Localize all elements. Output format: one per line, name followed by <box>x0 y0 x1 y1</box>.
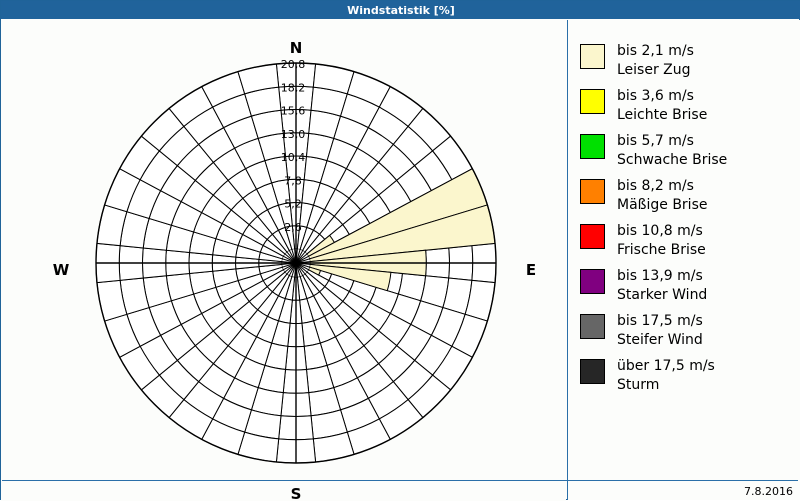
legend-item-speed: bis 5,7 m/s <box>617 133 694 149</box>
legend-item-speed: bis 8,2 m/s <box>617 178 694 194</box>
legend-item[interactable]: bis 13,9 m/sStarker Wind <box>580 267 707 305</box>
legend-swatch-icon <box>580 89 605 114</box>
legend-item[interactable]: bis 8,2 m/sMäßige Brise <box>580 177 707 215</box>
window-title: Windstatistik [%] <box>347 4 455 17</box>
legend-item-name: Steifer Wind <box>617 331 703 350</box>
legend-panel: bis 2,1 m/sLeiser Zugbis 3,6 m/sLeichte … <box>567 20 800 500</box>
legend-item-name: Sturm <box>617 376 715 395</box>
wind-rose-svg: 2,65,27,810,413,015,618,220,8 <box>1 19 566 501</box>
legend-item-name: Frische Brise <box>617 241 706 260</box>
legend-item-name: Starker Wind <box>617 286 707 305</box>
legend-swatch-icon <box>580 134 605 159</box>
legend-item-speed: bis 10,8 m/s <box>617 223 703 239</box>
legend-item-speed: bis 2,1 m/s <box>617 43 694 59</box>
legend-item-speed: bis 13,9 m/s <box>617 268 703 284</box>
radial-tick-label: 20,8 <box>281 58 306 71</box>
legend-item-text: bis 17,5 m/sSteifer Wind <box>617 312 703 350</box>
legend-item[interactable]: bis 3,6 m/sLeichte Brise <box>580 87 707 125</box>
wind-rose-window: Windstatistik [%] 2,65,27,810,413,015,61… <box>0 0 800 500</box>
legend-swatch-icon <box>580 179 605 204</box>
wind-rose-plot: 2,65,27,810,413,015,618,220,8 N S W E <box>1 19 566 501</box>
legend-item[interactable]: bis 17,5 m/sSteifer Wind <box>580 312 703 350</box>
legend-item-text: bis 13,9 m/sStarker Wind <box>617 267 707 305</box>
radial-tick-label: 7,8 <box>284 174 302 187</box>
legend-item-name: Leiser Zug <box>617 61 694 80</box>
legend-swatch-icon <box>580 44 605 69</box>
legend-item[interactable]: über 17,5 m/sSturm <box>580 357 715 395</box>
legend-item[interactable]: bis 10,8 m/sFrische Brise <box>580 222 706 260</box>
legend-item-text: bis 10,8 m/sFrische Brise <box>617 222 706 260</box>
radial-tick-label: 5,2 <box>284 198 302 211</box>
legend-item-text: über 17,5 m/sSturm <box>617 357 715 395</box>
legend-item-name: Schwache Brise <box>617 151 727 170</box>
legend-item-speed: bis 3,6 m/s <box>617 88 694 104</box>
compass-label-west: W <box>31 261 91 279</box>
legend-swatch-icon <box>580 224 605 249</box>
compass-label-north: N <box>266 39 326 57</box>
legend-item[interactable]: bis 5,7 m/sSchwache Brise <box>580 132 727 170</box>
legend-swatch-icon <box>580 269 605 294</box>
footer-date: 7.8.2016 <box>744 485 793 498</box>
legend-item-text: bis 3,6 m/sLeichte Brise <box>617 87 707 125</box>
legend-item-text: bis 5,7 m/sSchwache Brise <box>617 132 727 170</box>
legend-item-text: bis 2,1 m/sLeiser Zug <box>617 42 694 80</box>
compass-label-south: S <box>266 485 326 503</box>
radial-tick-label: 18,2 <box>281 81 306 94</box>
legend-item-speed: bis 17,5 m/s <box>617 313 703 329</box>
compass-label-east: E <box>501 261 561 279</box>
legend-item-speed: über 17,5 m/s <box>617 358 715 374</box>
footer-divider <box>2 480 798 481</box>
radial-tick-label: 10,4 <box>281 151 306 164</box>
legend-item[interactable]: bis 2,1 m/sLeiser Zug <box>580 42 694 80</box>
radial-tick-label: 13,0 <box>281 128 306 141</box>
window-title-bar: Windstatistik [%] <box>1 1 800 19</box>
radial-tick-label: 15,6 <box>281 105 306 118</box>
legend-swatch-icon <box>580 314 605 339</box>
legend-item-name: Leichte Brise <box>617 106 707 125</box>
radial-tick-label: 2,6 <box>284 221 302 234</box>
legend-item-name: Mäßige Brise <box>617 196 707 215</box>
legend-swatch-icon <box>580 359 605 384</box>
legend-item-text: bis 8,2 m/sMäßige Brise <box>617 177 707 215</box>
